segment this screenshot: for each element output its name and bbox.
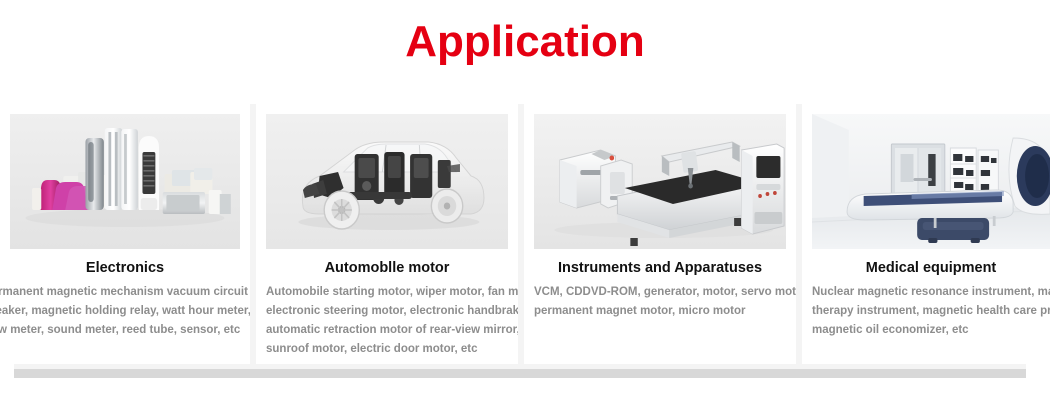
cnc-machine-photo	[534, 114, 786, 249]
description-line: sunroof motor, electric door motor, etc	[266, 340, 508, 359]
description-line: electronic steering motor, electronic ha…	[266, 302, 508, 321]
application-cards-row: Electronics Permanent magnetic mechanism…	[0, 104, 1050, 370]
card-title: Instruments and Apparatuses	[534, 258, 786, 278]
card-title: Medical equipment	[812, 258, 1050, 278]
application-card-electronics[interactable]: Electronics Permanent magnetic mechanism…	[0, 104, 250, 364]
page-title: Application	[0, 14, 1050, 70]
description-line: permanent magnet motor, micro motor	[534, 302, 786, 321]
description-line: Automobile starting motor, wiper motor, …	[266, 283, 508, 302]
card-description: Automobile starting motor, wiper motor, …	[266, 283, 508, 359]
strip-bottom-band	[14, 369, 1026, 378]
card-description: Permanent magnetic mechanism vacuum circ…	[0, 283, 240, 340]
description-line: therapy instrument, magnetic health care…	[812, 302, 1050, 321]
description-line: flow meter, sound meter, reed tube, sens…	[0, 321, 240, 340]
card-title: Automoblle motor	[266, 258, 508, 278]
application-card-medical-equipment[interactable]: Medical equipment Nuclear magnetic reson…	[802, 104, 1050, 364]
card-title: Electronics	[10, 258, 240, 278]
application-section: Application	[0, 0, 1050, 400]
description-line: breaker, magnetic holding relay, watt ho…	[0, 302, 240, 321]
description-line: automatic retraction motor of rear-view …	[266, 321, 508, 340]
description-line: Nuclear magnetic resonance instrument, m…	[812, 283, 1050, 302]
automobile-cutaway-photo	[266, 114, 508, 249]
application-card-automobile-motor[interactable]: Automoblle motor Automobile starting mot…	[256, 104, 518, 364]
description-line: Permanent magnetic mechanism vacuum circ…	[0, 283, 240, 302]
home-appliances-photo	[10, 114, 240, 249]
description-line: VCM, CDDVD-ROM, generator, motor, servo …	[534, 283, 786, 302]
description-line: magnetic oil economizer, etc	[812, 321, 1050, 340]
application-card-instruments-and-apparatuses[interactable]: Instruments and Apparatuses VCM, CDDVD-R…	[524, 104, 796, 364]
card-description: Nuclear magnetic resonance instrument, m…	[812, 283, 1050, 340]
card-description: VCM, CDDVD-ROM, generator, motor, servo …	[534, 283, 786, 321]
application-cards-strip: Electronics Permanent magnetic mechanism…	[14, 104, 1026, 378]
mri-scanner-room-photo	[812, 114, 1050, 249]
